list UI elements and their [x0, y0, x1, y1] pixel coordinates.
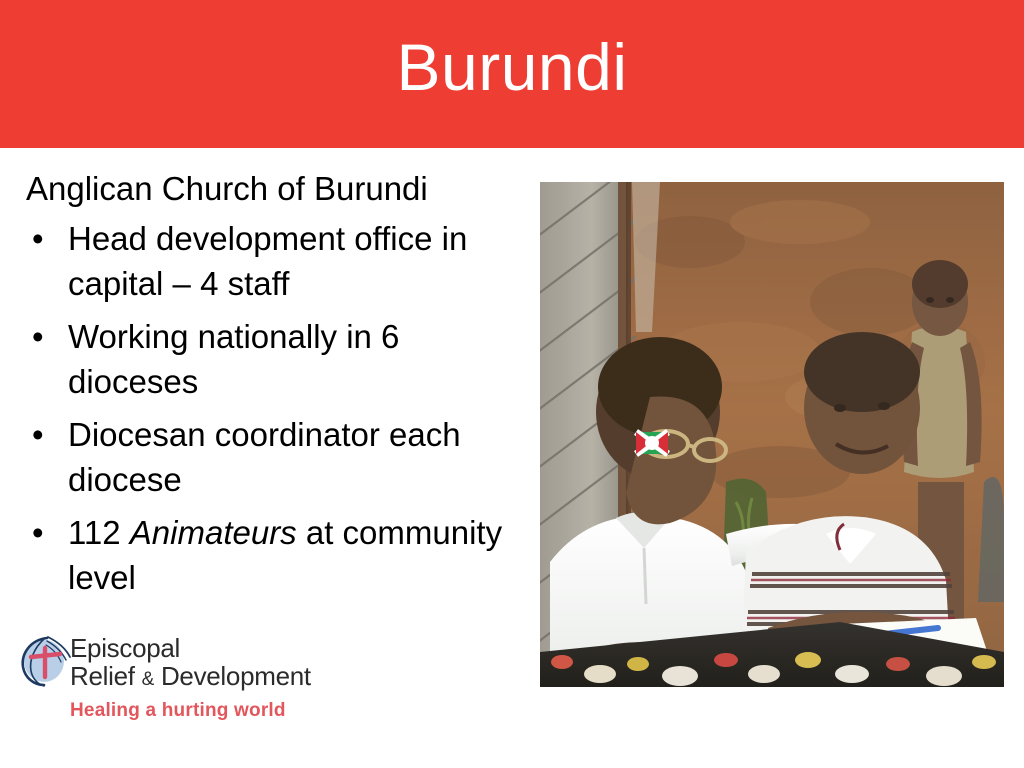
globe-cross-icon	[14, 630, 76, 692]
logo-tagline: Healing a hurting world	[70, 700, 286, 722]
logo-line-2-a: Relief	[70, 661, 135, 691]
logo-line-2: Relief & Development	[70, 662, 310, 694]
title-band: Burundi	[0, 0, 1024, 148]
list-item-label-pre: 112	[68, 514, 130, 551]
list-item-label: Diocesan coordinator each diocese	[68, 416, 461, 498]
list-item-label: Head development office in capital – 4 s…	[68, 220, 467, 302]
list-item: • 112 Animateurs at community level	[26, 510, 526, 600]
bullet-dot-icon: •	[32, 216, 44, 261]
lead-line: Anglican Church of Burundi	[26, 168, 526, 210]
logo-line-2-b: Development	[161, 661, 311, 691]
bullet-dot-icon: •	[32, 314, 44, 359]
organization-logo: Episcopal Relief & Development Healing a…	[14, 628, 314, 738]
logo-ampersand: &	[142, 669, 154, 690]
list-item: • Working nationally in 6 dioceses	[26, 314, 526, 404]
logo-wordmark: Episcopal Relief & Development	[70, 634, 310, 694]
bullet-dot-icon: •	[32, 510, 44, 555]
slide-canvas: Burundi Anglican Church of Burundi • Hea…	[0, 0, 1024, 768]
list-item-label: Working nationally in 6 dioceses	[68, 318, 399, 400]
logo-line-1: Episcopal	[70, 634, 310, 662]
body-content: Anglican Church of Burundi • Head develo…	[26, 168, 526, 608]
bullet-dot-icon: •	[32, 412, 44, 457]
slide-photo	[540, 182, 1004, 687]
list-item: • Diocesan coordinator each diocese	[26, 412, 526, 502]
page-title: Burundi	[0, 28, 1024, 106]
list-item-label-emphasis: Animateurs	[130, 514, 297, 551]
bullet-list: • Head development office in capital – 4…	[26, 216, 526, 600]
list-item: • Head development office in capital – 4…	[26, 216, 526, 306]
